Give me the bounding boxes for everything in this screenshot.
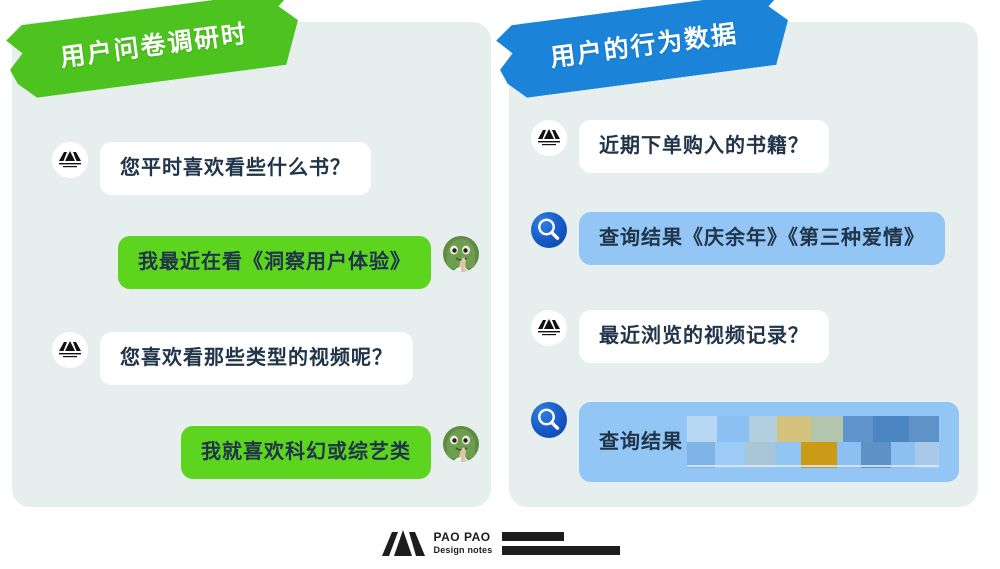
logo-bar-short xyxy=(502,532,564,541)
redaction-cell xyxy=(717,416,749,442)
chat-row: 我最近在看《洞察用户体验》 xyxy=(52,236,479,289)
chat-bubble-text: 我就喜欢科幻或综艺类 xyxy=(201,440,411,465)
bot-logo-avatar[interactable] xyxy=(52,332,88,368)
search-icon[interactable] xyxy=(531,402,567,438)
chat-row: 您平时喜欢看些什么书？ xyxy=(52,142,371,195)
brand-logo: PAO PAO Design notes xyxy=(380,528,621,558)
redaction-underline xyxy=(687,465,939,467)
user-frog-avatar[interactable] xyxy=(443,426,479,462)
chat-bubble-text: 您喜欢看那些类型的视频呢？ xyxy=(120,346,393,371)
footer: PAO PAO Design notes xyxy=(0,528,1000,558)
chat-bubble[interactable]: 您平时喜欢看些什么书？ xyxy=(100,142,371,195)
chat-row: 最近浏览的视频记录？ xyxy=(531,310,829,363)
chat-bubble-text: 查询结果 xyxy=(599,430,683,455)
user-frog-avatar[interactable] xyxy=(443,236,479,272)
chat-row: 近期下单购入的书籍？ xyxy=(531,120,829,173)
mountain-logo-icon xyxy=(380,528,426,558)
brand-name: PAO PAO xyxy=(434,531,493,543)
chat-row: 查询结果《庆余年》《第三种爱情》 xyxy=(531,212,945,265)
chat-bubble[interactable]: 我最近在看《洞察用户体验》 xyxy=(118,236,431,289)
poster-canvas: 您平时喜欢看些什么书？ 我最近在看《洞察用户体验》 xyxy=(0,0,1000,569)
chat-bubble-text: 最近浏览的视频记录？ xyxy=(599,324,809,349)
redaction-cell xyxy=(811,416,843,442)
brand-text: PAO PAO Design notes xyxy=(434,531,493,555)
chat-bubble-text: 查询结果《庆余年》《第三种爱情》 xyxy=(599,226,925,251)
chat-bubble[interactable]: 最近浏览的视频记录？ xyxy=(579,310,829,363)
survey-banner-label: 用户问卷调研时 xyxy=(58,14,250,74)
redaction-cell xyxy=(749,416,777,442)
redaction-cell xyxy=(777,416,811,442)
bot-logo-avatar[interactable] xyxy=(52,142,88,178)
redaction-cell xyxy=(687,416,717,442)
chat-bubble[interactable]: 查询结果 xyxy=(579,402,959,482)
logo-bar-long xyxy=(502,546,620,555)
survey-panel: 您平时喜欢看些什么书？ 我最近在看《洞察用户体验》 xyxy=(12,22,491,507)
chat-bubble-text: 您平时喜欢看些什么书？ xyxy=(120,156,351,181)
chat-bubble[interactable]: 您喜欢看那些类型的视频呢？ xyxy=(100,332,413,385)
redaction-cell xyxy=(873,416,909,442)
redaction-cell xyxy=(843,416,873,442)
chat-row: 您喜欢看那些类型的视频呢？ xyxy=(52,332,413,385)
behavior-banner-label: 用户的行为数据 xyxy=(548,14,740,74)
redaction-cell xyxy=(909,416,939,442)
search-icon[interactable] xyxy=(531,212,567,248)
bot-logo-avatar[interactable] xyxy=(531,310,567,346)
logo-bars xyxy=(502,532,620,555)
chat-bubble-text: 我最近在看《洞察用户体验》 xyxy=(138,250,411,275)
chat-bubble[interactable]: 我就喜欢科幻或综艺类 xyxy=(181,426,431,479)
brand-tagline: Design notes xyxy=(434,546,493,555)
chat-row: 查询结果 xyxy=(531,402,959,482)
bot-logo-avatar[interactable] xyxy=(531,120,567,156)
chat-row: 我就喜欢科幻或综艺类 xyxy=(52,426,479,479)
chat-bubble-text: 近期下单购入的书籍？ xyxy=(599,134,809,159)
redacted-content xyxy=(687,416,939,468)
chat-bubble[interactable]: 近期下单购入的书籍？ xyxy=(579,120,829,173)
chat-bubble[interactable]: 查询结果《庆余年》《第三种爱情》 xyxy=(579,212,945,265)
